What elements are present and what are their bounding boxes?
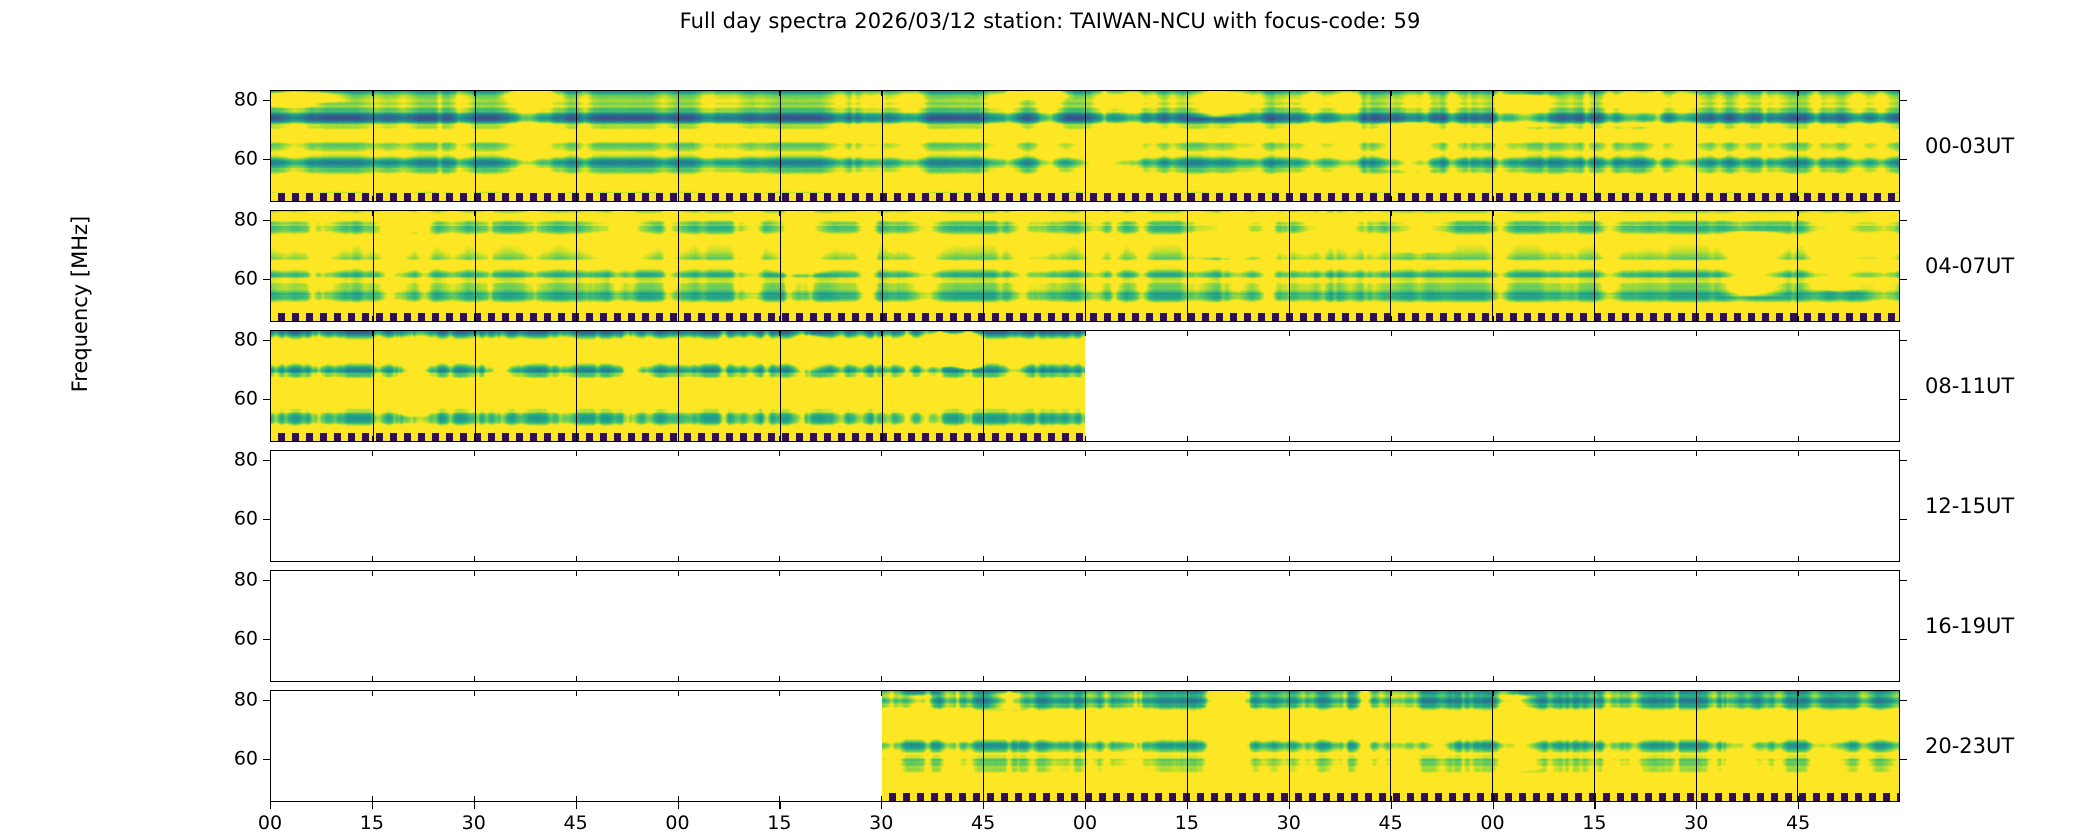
x-axis-tick-minor-top [1085, 690, 1086, 696]
row-label-12-15ut: 12-15UT [1925, 496, 2014, 517]
y-axis-tick-label: 80 [234, 450, 258, 469]
row-label-20-23ut: 20-23UT [1925, 736, 2014, 757]
x-axis-tick-minor-top [1594, 330, 1595, 336]
x-axis-tick-minor-top [1594, 210, 1595, 216]
y-axis-tick-right [1900, 100, 1907, 101]
x-axis-tick-label: 15 [1175, 814, 1199, 833]
x-axis-tick-minor-top [270, 570, 271, 576]
x-axis-tick-minor-top [678, 90, 679, 96]
y-axis-tick-label: 60 [234, 389, 258, 408]
x-axis-tick [1594, 802, 1595, 809]
x-axis-tick-minor-top [576, 570, 577, 576]
x-axis-tick-minor-top [1187, 210, 1188, 216]
x-axis-tick-minor-top [1289, 690, 1290, 696]
x-axis-tick-minor-top [1594, 450, 1595, 456]
spectrogram-canvas [271, 91, 1899, 201]
x-axis-tick-minor-top [1085, 90, 1086, 96]
x-axis-tick-minor [779, 436, 780, 442]
x-axis-tick-minor-top [372, 570, 373, 576]
y-axis-tick-label: 80 [234, 210, 258, 229]
panel-frame [270, 90, 1900, 202]
x-axis-tick-minor-top [1493, 690, 1494, 696]
x-axis-tick-minor [1187, 316, 1188, 322]
y-axis-tick-right [1900, 700, 1907, 701]
x-axis-tick-minor [1289, 676, 1290, 682]
x-axis-tick-minor [1798, 556, 1799, 562]
x-axis-tick-minor [1594, 436, 1595, 442]
x-axis-tick [1085, 802, 1086, 809]
x-axis-tick-minor-top [372, 690, 373, 696]
y-axis-tick [263, 340, 270, 341]
x-axis-tick-minor [1594, 316, 1595, 322]
x-axis-tick-minor [1493, 556, 1494, 562]
x-axis-tick [474, 802, 475, 809]
x-axis-tick-minor [983, 556, 984, 562]
x-axis-tick-minor-top [270, 90, 271, 96]
spectrogram-data [271, 211, 1899, 321]
panel-frame [270, 690, 1900, 802]
x-axis-tick-minor [1493, 196, 1494, 202]
x-axis-tick-minor [1391, 316, 1392, 322]
x-axis-tick-minor-top [1696, 330, 1697, 336]
x-axis-tick-label: 00 [1480, 814, 1504, 833]
x-axis-tick-minor-top [474, 450, 475, 456]
x-axis-tick-minor-top [1696, 570, 1697, 576]
x-axis-tick-minor-top [779, 450, 780, 456]
x-axis-tick [1493, 802, 1494, 809]
x-axis-tick-minor [1391, 676, 1392, 682]
x-axis-tick-minor [1696, 316, 1697, 322]
x-axis-tick-minor [779, 676, 780, 682]
x-axis-tick-label: 00 [258, 814, 282, 833]
x-axis-tick-minor [983, 676, 984, 682]
x-axis-tick-label: 30 [1684, 814, 1708, 833]
x-axis-tick-minor-top [983, 210, 984, 216]
x-axis-tick-minor-top [474, 90, 475, 96]
y-axis-label: Frequency [MHz] [68, 154, 92, 454]
x-axis-tick-minor-top [1798, 570, 1799, 576]
x-axis-tick-label: 45 [564, 814, 588, 833]
x-axis-tick-minor-top [576, 330, 577, 336]
x-axis-tick-minor-top [576, 90, 577, 96]
x-axis-tick-minor-top [779, 90, 780, 96]
x-axis-tick-minor [1391, 436, 1392, 442]
x-axis-tick-minor [1085, 196, 1086, 202]
x-axis-tick-minor-top [1798, 90, 1799, 96]
x-axis-tick-label: 00 [1073, 814, 1097, 833]
x-axis-tick-minor [983, 196, 984, 202]
y-axis-tick-label: 60 [234, 749, 258, 768]
x-axis-tick-minor-top [1493, 90, 1494, 96]
x-axis-tick-minor [678, 316, 679, 322]
x-axis-tick-minor [270, 676, 271, 682]
x-axis-tick-minor-top [474, 570, 475, 576]
x-axis-tick-minor [1085, 556, 1086, 562]
x-axis-tick-minor [1696, 676, 1697, 682]
x-axis-tick-minor-top [1187, 570, 1188, 576]
y-axis-tick [263, 700, 270, 701]
x-axis-tick-minor-top [983, 90, 984, 96]
page-title: Full day spectra 2026/03/12 station: TAI… [0, 9, 2100, 33]
x-axis-tick-minor-top [1696, 210, 1697, 216]
x-axis-tick-minor-top [881, 210, 882, 216]
x-axis-tick-minor [1085, 676, 1086, 682]
panel-frame [270, 330, 1900, 442]
x-axis-tick-minor-top [1493, 210, 1494, 216]
x-axis-tick-minor-top [983, 690, 984, 696]
x-axis-tick [983, 802, 984, 809]
y-axis-tick [263, 460, 270, 461]
x-axis-tick-minor [678, 196, 679, 202]
x-axis-tick-minor [1798, 436, 1799, 442]
x-axis-tick-minor-top [881, 90, 882, 96]
x-axis-tick-minor-top [372, 330, 373, 336]
x-axis-tick-minor-top [1187, 330, 1188, 336]
x-axis-tick [1696, 802, 1697, 809]
y-axis-tick-right [1900, 580, 1907, 581]
x-axis-tick-minor [1289, 316, 1290, 322]
x-axis-tick-minor-top [474, 690, 475, 696]
x-axis-tick-minor [270, 316, 271, 322]
x-axis-tick-minor-top [678, 210, 679, 216]
x-axis-tick-minor-top [1289, 450, 1290, 456]
y-axis-tick-label: 80 [234, 90, 258, 109]
x-axis-tick-minor-top [678, 690, 679, 696]
x-axis-tick [1391, 802, 1392, 809]
x-axis-tick-minor-top [1391, 330, 1392, 336]
x-axis-tick-minor-top [881, 330, 882, 336]
x-axis-tick-minor-top [983, 450, 984, 456]
row-label-08-11ut: 08-11UT [1925, 376, 2014, 397]
x-axis-tick-label: 45 [1379, 814, 1403, 833]
y-axis-tick [263, 580, 270, 581]
y-axis-tick-right [1900, 460, 1907, 461]
x-axis-tick-minor-top [881, 450, 882, 456]
y-axis-tick-right [1900, 279, 1907, 280]
y-axis-tick [263, 639, 270, 640]
y-axis-tick-right [1900, 639, 1907, 640]
x-axis-tick-minor [1187, 196, 1188, 202]
x-axis-tick-minor [1594, 676, 1595, 682]
x-axis-tick-minor [474, 316, 475, 322]
spectrogram-row: 8060 [270, 330, 1900, 442]
x-axis-tick-minor [779, 556, 780, 562]
row-label-00-03ut: 00-03UT [1925, 136, 2014, 157]
x-axis-tick-minor [1493, 436, 1494, 442]
x-axis-tick [1187, 802, 1188, 809]
x-axis-tick-minor [678, 436, 679, 442]
spectrogram-data [882, 691, 1900, 801]
x-axis-tick-minor-top [779, 330, 780, 336]
x-axis-tick [270, 802, 271, 809]
x-axis-tick-minor-top [576, 450, 577, 456]
x-axis-tick-minor [1187, 556, 1188, 562]
panel-frame [270, 570, 1900, 682]
x-axis-tick-minor-top [576, 210, 577, 216]
x-axis-tick-minor [1391, 556, 1392, 562]
x-axis-tick [576, 802, 577, 809]
x-axis-tick-minor-top [576, 690, 577, 696]
x-axis-tick-minor [881, 676, 882, 682]
spectrogram-canvas [271, 331, 1085, 441]
x-axis-tick-minor [474, 436, 475, 442]
x-axis-tick-label: 45 [971, 814, 995, 833]
x-axis-tick-minor-top [474, 330, 475, 336]
x-axis-tick-minor-top [1085, 570, 1086, 576]
x-axis-tick-minor [1085, 436, 1086, 442]
x-axis-tick-minor-top [678, 330, 679, 336]
x-axis-tick-minor [881, 316, 882, 322]
x-axis-tick-minor [1289, 196, 1290, 202]
x-axis-tick-minor-top [1187, 690, 1188, 696]
x-axis-tick-minor-top [779, 570, 780, 576]
y-axis-tick-right [1900, 220, 1907, 221]
x-axis-tick-minor [881, 196, 882, 202]
x-axis-tick-minor [1798, 316, 1799, 322]
x-axis-tick-minor-top [1391, 570, 1392, 576]
x-axis-tick-minor [1696, 556, 1697, 562]
y-axis-tick-right [1900, 340, 1907, 341]
x-axis-tick-minor-top [1493, 330, 1494, 336]
x-axis-tick-minor [983, 436, 984, 442]
y-axis-tick [263, 759, 270, 760]
x-axis-tick-minor-top [1696, 90, 1697, 96]
x-axis-tick-minor-top [1493, 570, 1494, 576]
x-axis-tick-minor-top [1085, 450, 1086, 456]
x-axis-tick-minor [372, 556, 373, 562]
x-axis-tick-minor [576, 436, 577, 442]
x-axis-tick-minor-top [881, 570, 882, 576]
x-axis-tick-minor [372, 676, 373, 682]
x-axis-tick-minor [576, 316, 577, 322]
x-axis-tick [1798, 802, 1799, 809]
row-label-04-07ut: 04-07UT [1925, 256, 2014, 277]
x-axis-tick-minor-top [1798, 450, 1799, 456]
x-axis-tick-minor [1493, 316, 1494, 322]
y-axis-tick-label: 60 [234, 269, 258, 288]
x-axis-tick-minor [1798, 196, 1799, 202]
y-axis-tick-right [1900, 399, 1907, 400]
x-axis-tick-minor [474, 196, 475, 202]
x-axis-tick-minor-top [881, 690, 882, 696]
x-axis-tick-label: 15 [360, 814, 384, 833]
x-axis-tick-minor [270, 196, 271, 202]
x-axis-tick-minor-top [372, 90, 373, 96]
x-axis-tick-minor [1594, 196, 1595, 202]
column-separators [271, 571, 1899, 681]
y-axis-tick [263, 519, 270, 520]
x-axis-tick-minor-top [779, 210, 780, 216]
x-axis-tick-minor [1289, 556, 1290, 562]
x-axis-tick-minor [1696, 436, 1697, 442]
spectrogram-canvas [882, 691, 1900, 801]
x-axis-tick-minor-top [1085, 210, 1086, 216]
x-axis-tick-minor [1391, 196, 1392, 202]
spectrogram-canvas [271, 211, 1899, 321]
x-axis-tick-minor-top [1187, 450, 1188, 456]
spectrogram-row: 806000153045001530450015304500153045 [270, 690, 1900, 802]
y-axis-tick [263, 279, 270, 280]
x-axis-tick-minor-top [1391, 90, 1392, 96]
x-axis-tick-minor-top [1289, 90, 1290, 96]
x-axis-tick-label: 15 [767, 814, 791, 833]
x-axis-tick-minor [372, 316, 373, 322]
x-axis-tick [881, 802, 882, 809]
x-axis-tick-minor [1085, 316, 1086, 322]
x-axis-tick-label: 15 [1582, 814, 1606, 833]
x-axis-tick-minor-top [1798, 690, 1799, 696]
x-axis-tick-label: 45 [1786, 814, 1810, 833]
column-separators [271, 451, 1899, 561]
y-axis-tick-label: 60 [234, 509, 258, 528]
x-axis-tick-minor-top [1493, 450, 1494, 456]
x-axis-tick-minor [1696, 196, 1697, 202]
spectrogram-row: 8060 [270, 570, 1900, 682]
y-axis-tick-label: 60 [234, 149, 258, 168]
x-axis-tick-minor [270, 556, 271, 562]
y-axis-tick-right [1900, 519, 1907, 520]
x-axis-tick-minor-top [270, 210, 271, 216]
x-axis-tick-minor-top [1391, 210, 1392, 216]
x-axis-tick-minor-top [270, 330, 271, 336]
x-axis-tick-minor [1187, 436, 1188, 442]
y-axis-tick [263, 220, 270, 221]
x-axis-tick-minor [1493, 676, 1494, 682]
y-axis-tick-label: 80 [234, 330, 258, 349]
spectrogram-figure: Full day spectra 2026/03/12 station: TAI… [0, 0, 2100, 800]
x-axis-tick-minor-top [270, 690, 271, 696]
spectrogram-row: 8060 [270, 210, 1900, 322]
x-axis-tick-minor-top [270, 450, 271, 456]
panel-frame [270, 450, 1900, 562]
x-axis-tick-minor [779, 196, 780, 202]
y-axis-tick-label: 80 [234, 570, 258, 589]
x-axis-tick-minor [1594, 556, 1595, 562]
x-axis-tick-minor [678, 676, 679, 682]
x-axis-tick-label: 00 [665, 814, 689, 833]
x-axis-tick-minor-top [678, 450, 679, 456]
y-axis-tick-right [1900, 759, 1907, 760]
x-axis-tick-minor [576, 196, 577, 202]
y-axis-tick [263, 399, 270, 400]
x-axis-tick-minor-top [1696, 690, 1697, 696]
x-axis-tick-minor [983, 316, 984, 322]
x-axis-tick-minor-top [1391, 690, 1392, 696]
x-axis-tick-minor-top [372, 450, 373, 456]
x-axis-tick [779, 802, 780, 809]
spectrogram-data [271, 331, 1085, 441]
x-axis-tick-minor [881, 436, 882, 442]
x-axis-tick-minor [474, 676, 475, 682]
x-axis-tick-label: 30 [1277, 814, 1301, 833]
x-axis-tick-minor [678, 556, 679, 562]
x-axis-tick-minor-top [983, 330, 984, 336]
x-axis-tick-minor [881, 556, 882, 562]
panel-frame [270, 210, 1900, 322]
x-axis-tick-minor-top [1289, 210, 1290, 216]
x-axis-tick-minor-top [678, 570, 679, 576]
x-axis-tick-minor-top [1187, 90, 1188, 96]
x-axis-tick-minor-top [1798, 210, 1799, 216]
x-axis-tick-minor [474, 556, 475, 562]
x-axis-tick-minor-top [1594, 90, 1595, 96]
x-axis-tick-minor [779, 316, 780, 322]
x-axis-tick-minor-top [1289, 570, 1290, 576]
x-axis-tick-minor-top [1594, 570, 1595, 576]
x-axis-tick-minor [1289, 436, 1290, 442]
x-axis-tick-minor [372, 436, 373, 442]
spectrogram-row: 8060 [270, 450, 1900, 562]
x-axis-tick-minor-top [474, 210, 475, 216]
x-axis-tick-minor-top [1391, 450, 1392, 456]
x-axis-tick-label: 30 [869, 814, 893, 833]
y-axis-tick [263, 159, 270, 160]
x-axis-tick-minor-top [1085, 330, 1086, 336]
x-axis-tick-minor-top [1696, 450, 1697, 456]
x-axis-tick-minor-top [1594, 690, 1595, 696]
x-axis-tick-minor [372, 196, 373, 202]
x-axis-tick-minor-top [372, 210, 373, 216]
x-axis-tick-minor-top [1798, 330, 1799, 336]
y-axis-tick-right [1900, 159, 1907, 160]
spectrogram-data [271, 91, 1899, 201]
x-axis-tick-minor-top [779, 690, 780, 696]
x-axis-tick-minor-top [1289, 330, 1290, 336]
x-axis-tick-minor [576, 556, 577, 562]
y-axis-tick [263, 100, 270, 101]
x-axis-tick [372, 802, 373, 809]
x-axis-tick-minor [576, 676, 577, 682]
x-axis-tick-minor [270, 436, 271, 442]
row-label-16-19ut: 16-19UT [1925, 616, 2014, 637]
y-axis-tick-label: 60 [234, 629, 258, 648]
x-axis-tick-minor [1187, 676, 1188, 682]
x-axis-tick-minor [1798, 676, 1799, 682]
y-axis-tick-label: 80 [234, 690, 258, 709]
x-axis-tick [678, 802, 679, 809]
x-axis-tick-label: 30 [462, 814, 486, 833]
x-axis-tick-minor-top [983, 570, 984, 576]
spectrogram-row: 8060 [270, 90, 1900, 202]
x-axis-tick [1289, 802, 1290, 809]
